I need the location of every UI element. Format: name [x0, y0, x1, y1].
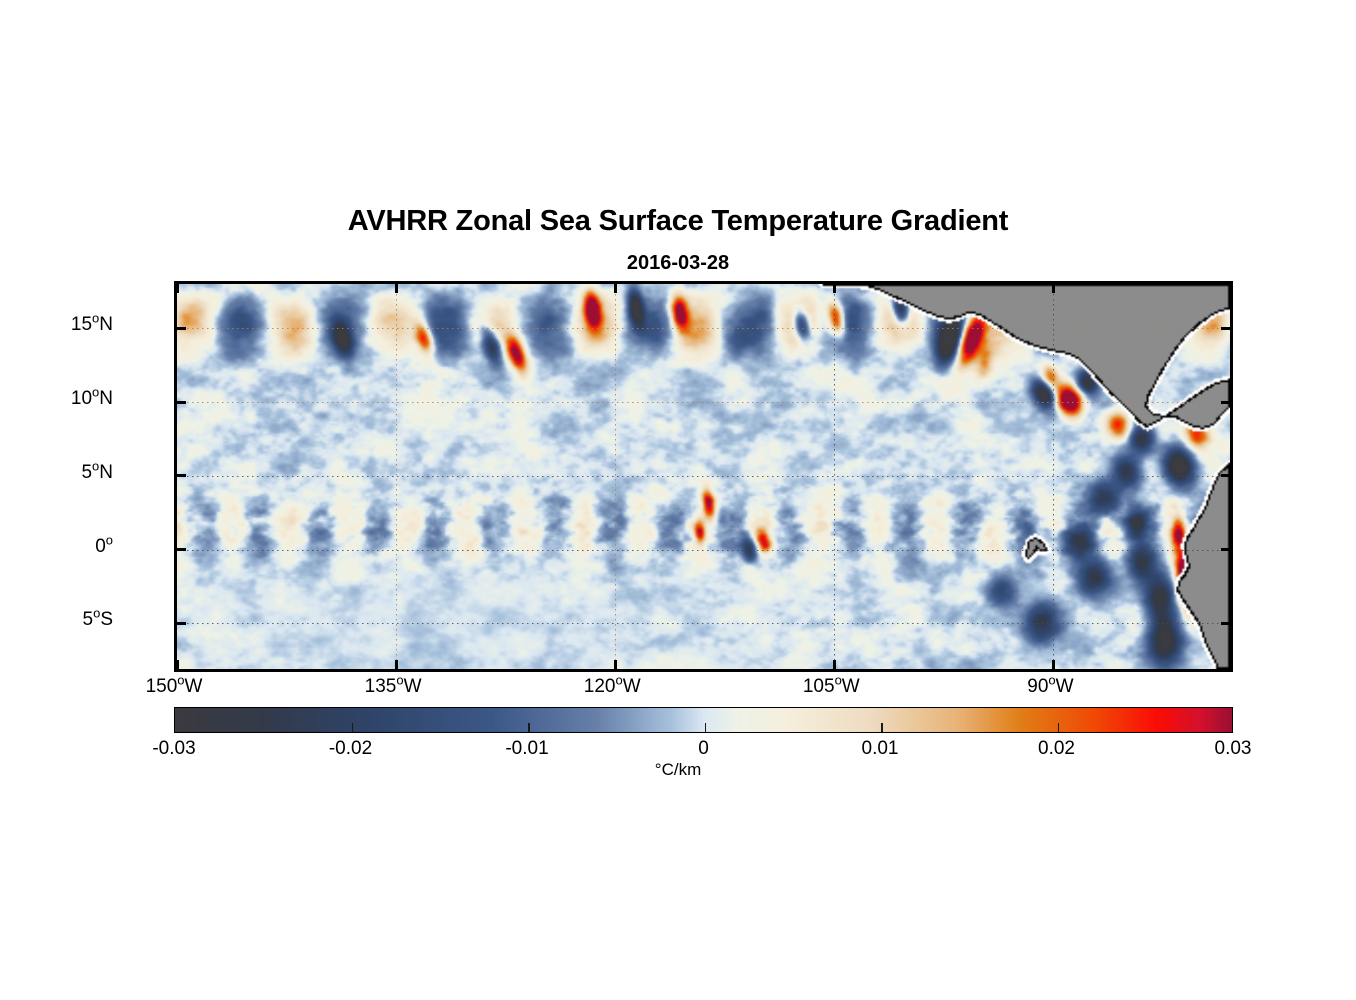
y-axis-label-5°N: 5oN [0, 462, 113, 484]
y-axis-label-10°N: 10oN [0, 388, 113, 410]
y-axis-label-15°N: 15oN [0, 314, 113, 336]
x-tick [395, 284, 398, 293]
colorbar-tick [528, 723, 530, 732]
y-tick [1221, 474, 1230, 477]
x-tick [833, 284, 836, 293]
x-axis-label-120°W: 120oW [584, 676, 641, 698]
gridline-lon-105°W [834, 284, 835, 669]
x-tick [833, 660, 836, 669]
x-axis-label-90°W: 90oW [1027, 676, 1073, 698]
y-tick [1221, 401, 1230, 404]
colorbar-unit-label: °C/km [0, 760, 1356, 780]
gridline-lat-0° [177, 550, 1230, 551]
y-axis-label-5°S: 5oS [0, 609, 113, 631]
y-tick [177, 548, 186, 551]
colorbar-label--0.02: -0.02 [329, 738, 372, 760]
x-tick [1052, 284, 1055, 293]
x-tick [176, 660, 179, 669]
y-tick [1221, 548, 1230, 551]
figure-subtitle: 2016-03-28 [0, 252, 1356, 275]
colorbar-label-0: 0 [698, 738, 709, 760]
figure-title: AVHRR Zonal Sea Surface Temperature Grad… [0, 205, 1356, 238]
colorbar-tick [1058, 723, 1060, 732]
y-tick [177, 622, 186, 625]
colorbar [174, 707, 1233, 733]
colorbar-gradient [175, 708, 1232, 732]
colorbar-label-0.03: 0.03 [1215, 738, 1252, 760]
x-axis-label-150°W: 150oW [146, 676, 203, 698]
x-tick [176, 284, 179, 293]
x-tick [395, 660, 398, 669]
colorbar-tick [352, 723, 354, 732]
figure-canvas: AVHRR Zonal Sea Surface Temperature Grad… [0, 0, 1356, 1000]
y-tick [177, 401, 186, 404]
gridline-lon-90°W [1053, 284, 1054, 669]
gridline-lon-120°W [615, 284, 616, 669]
map-axes [174, 281, 1233, 672]
colorbar-label-0.01: 0.01 [862, 738, 899, 760]
gridline-lat-10°N [177, 402, 1230, 403]
colorbar-tick [881, 723, 883, 732]
x-tick [614, 660, 617, 669]
y-tick [1221, 327, 1230, 330]
gridline-lat-5°N [177, 476, 1230, 477]
y-tick [1221, 622, 1230, 625]
colorbar-label--0.03: -0.03 [152, 738, 195, 760]
colorbar-tick [705, 723, 707, 732]
x-axis-label-135°W: 135oW [365, 676, 422, 698]
gridline-lat-15°N [177, 328, 1230, 329]
colorbar-label-0.02: 0.02 [1038, 738, 1075, 760]
x-tick [614, 284, 617, 293]
x-axis-label-105°W: 105oW [803, 676, 860, 698]
x-tick [1052, 660, 1055, 669]
colorbar-label--0.01: -0.01 [505, 738, 548, 760]
y-axis-label-0°: 0o [0, 536, 113, 558]
y-tick [177, 474, 186, 477]
gridline-lon-135°W [396, 284, 397, 669]
gridline-lat-5°S [177, 623, 1230, 624]
y-tick [177, 327, 186, 330]
